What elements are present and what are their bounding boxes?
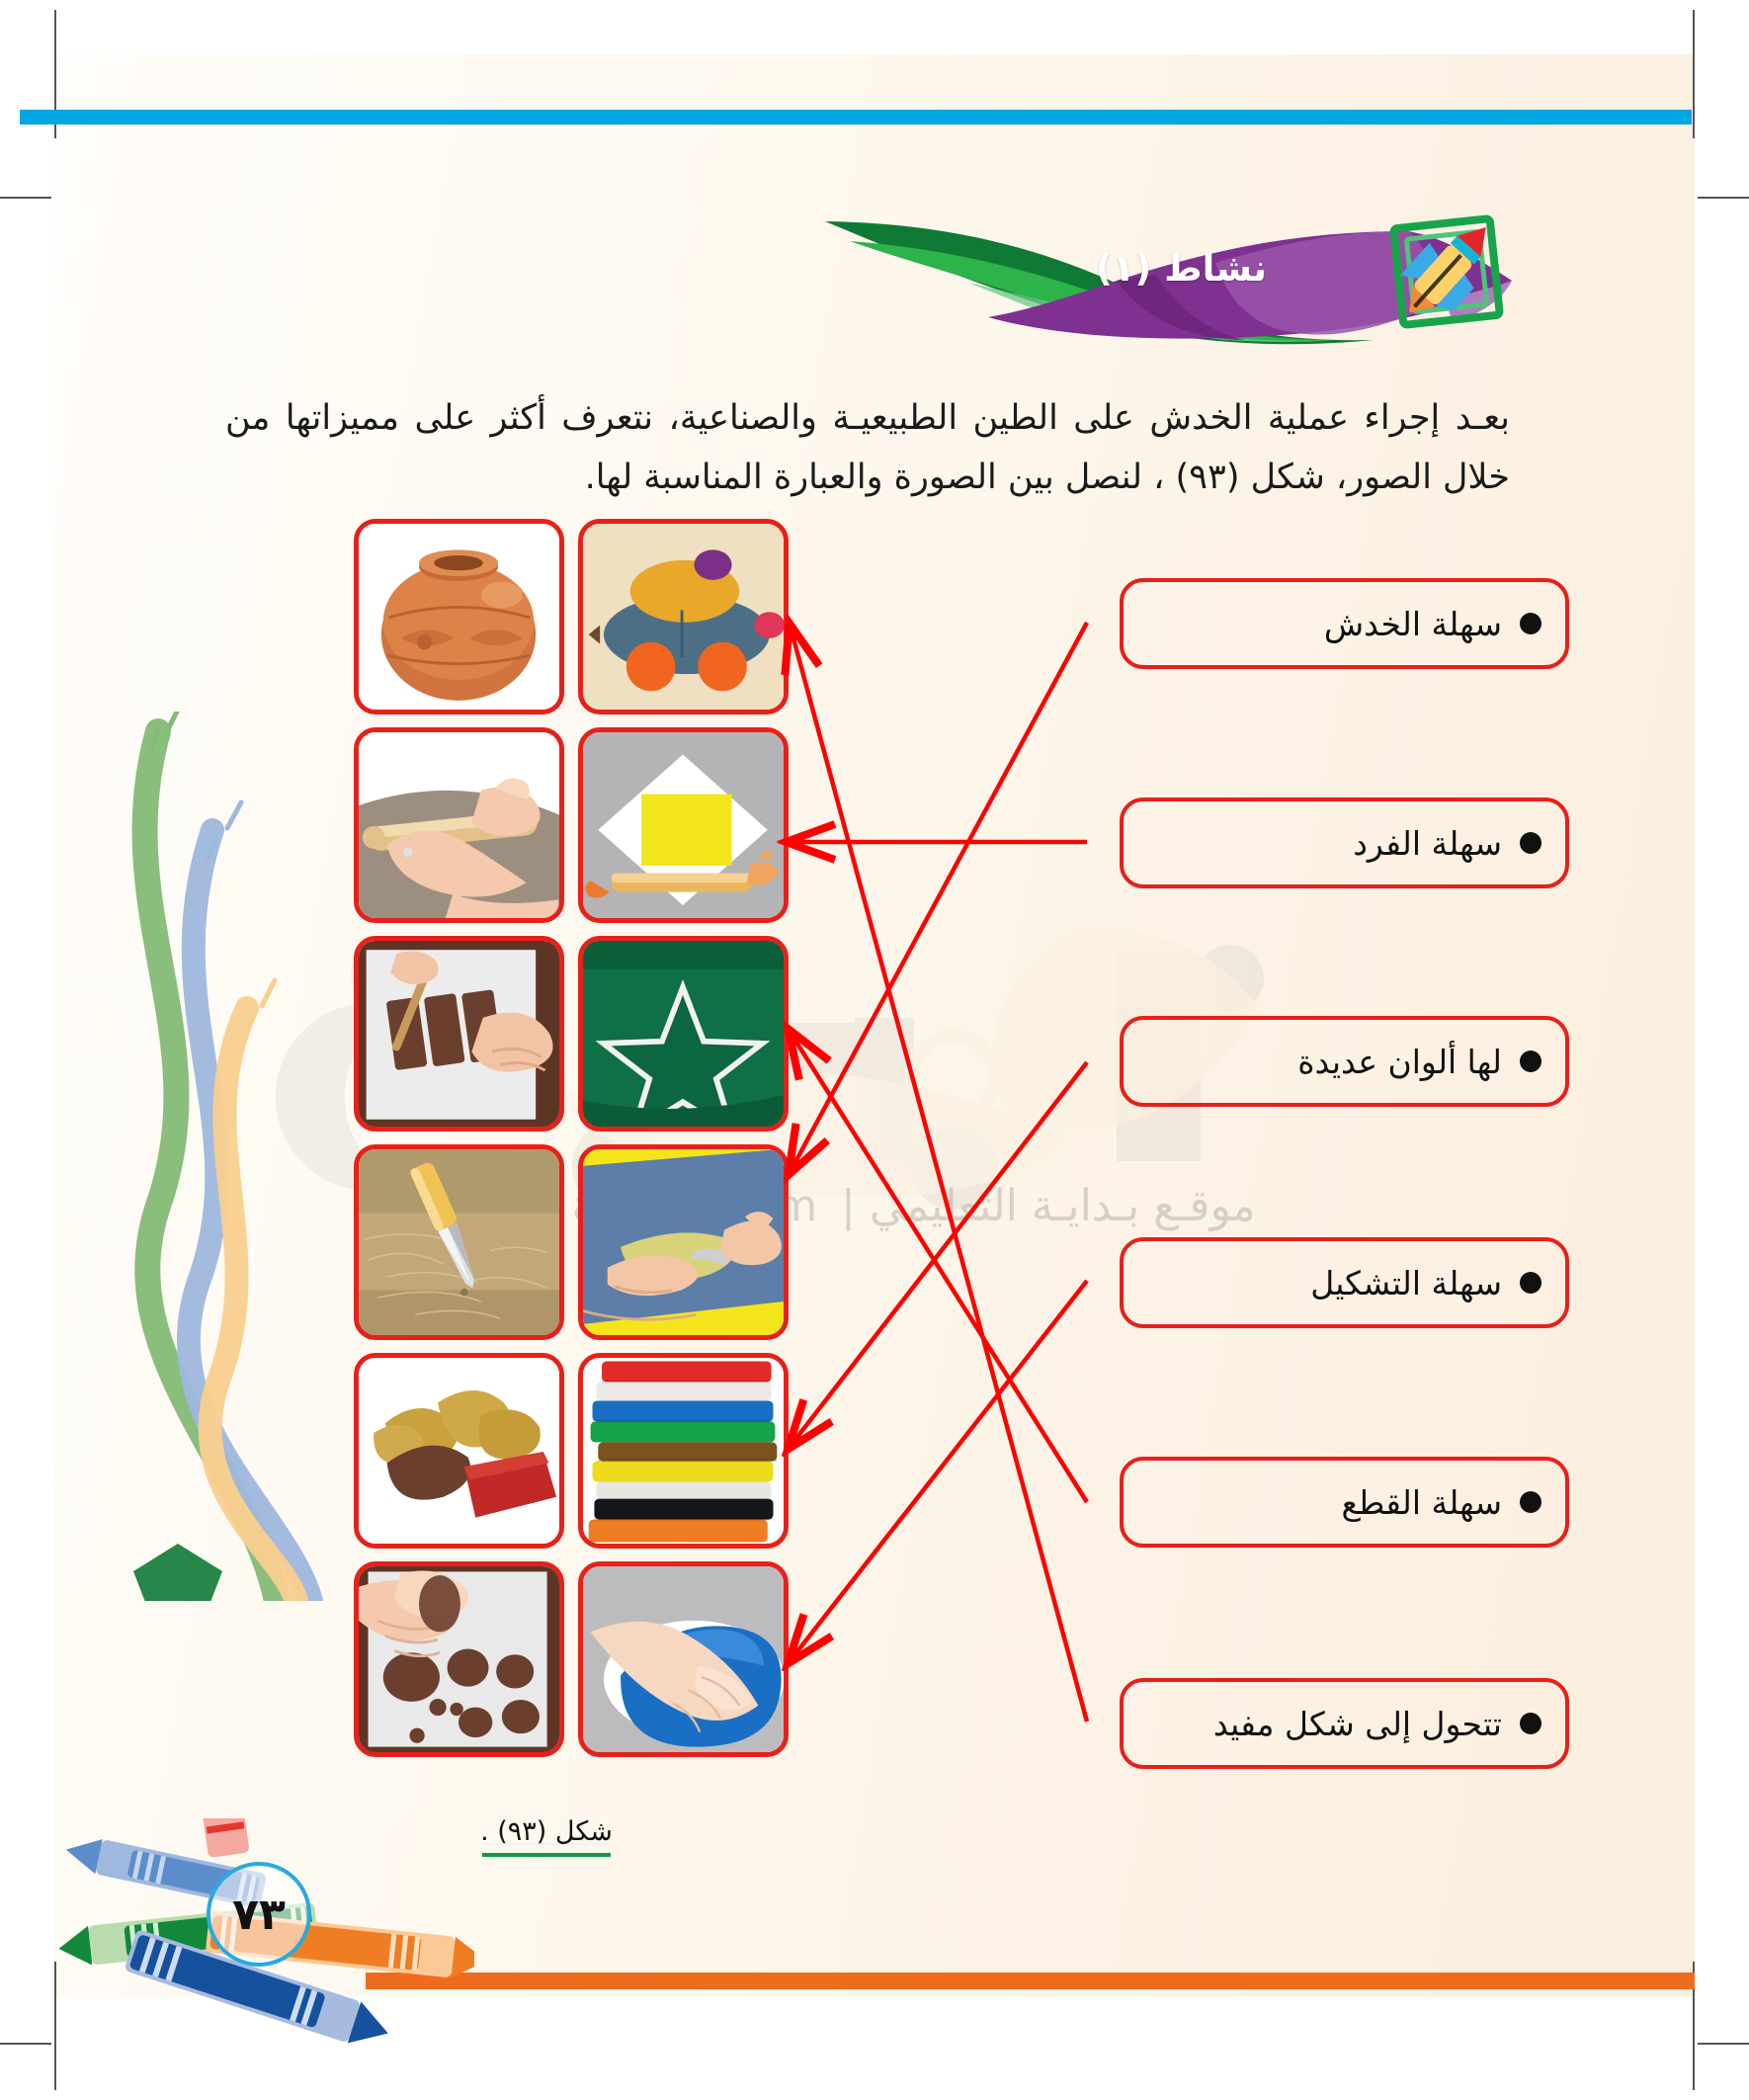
- crop-mark-left-bottom: [0, 2043, 51, 2045]
- figure-caption-text: شكل (٩٣) .: [480, 1816, 613, 1847]
- photo-row-5: [354, 1353, 789, 1549]
- top-accent-bar: [20, 110, 1692, 125]
- photo-row-6: [354, 1561, 789, 1757]
- banner-title: نشاط (١): [1096, 247, 1267, 290]
- label-text: سهلة التشكيل: [1310, 1264, 1502, 1302]
- cutting-clay-photo[interactable]: [354, 936, 564, 1132]
- photo-grid: [354, 519, 789, 1770]
- crop-mark-right-bottom: [1698, 2043, 1749, 2045]
- label-text: سهلة القطع: [1341, 1483, 1502, 1522]
- crop-mark-bottom-left: [54, 1962, 56, 2090]
- page-number: ٧٣: [207, 1862, 311, 1967]
- label-box-easy-to-spread[interactable]: سهلة الفرد: [1120, 798, 1569, 888]
- crop-mark-right-top: [1698, 197, 1749, 199]
- activity-banner: نشاط (١): [820, 204, 1532, 347]
- bullet-icon: [1520, 1491, 1541, 1513]
- bullet-icon: [1520, 1050, 1541, 1072]
- label-box-useful-shape[interactable]: تتحول إلى شكل مفيد: [1120, 1678, 1569, 1769]
- label-text: لها ألوان عديدة: [1297, 1043, 1502, 1081]
- label-box-easy-to-scratch[interactable]: سهلة الخدش: [1120, 578, 1569, 669]
- bottom-accent-bar: [366, 1973, 1695, 1989]
- crop-mark-left-top: [0, 197, 51, 199]
- pressing-dough-photo[interactable]: [578, 1561, 789, 1757]
- rolling-clay-photo[interactable]: [354, 727, 564, 923]
- scratching-tool-photo[interactable]: [354, 1144, 564, 1340]
- label-text: تتحول إلى شكل مفيد: [1213, 1705, 1502, 1743]
- bullet-icon: [1520, 1272, 1541, 1294]
- activity-instruction-text: بعـد إجراء عملية الخدش على الطين الطبيعي…: [225, 388, 1510, 507]
- rolling-dough-photo[interactable]: [578, 727, 789, 923]
- label-box-easy-to-cut[interactable]: سهلة القطع: [1120, 1457, 1569, 1548]
- playdough-car-photo[interactable]: [578, 519, 789, 714]
- photo-row-4: [354, 1144, 789, 1340]
- clay-blocks-photo[interactable]: [354, 1353, 564, 1549]
- label-box-easy-to-shape[interactable]: سهلة التشكيل: [1120, 1237, 1569, 1328]
- star-cutout-photo[interactable]: [578, 936, 789, 1132]
- shaping-balls-photo[interactable]: [354, 1561, 564, 1757]
- photo-row-2: [354, 727, 789, 923]
- figure-caption-underline: [482, 1853, 611, 1857]
- bullet-icon: [1520, 832, 1541, 854]
- decorative-ribbons: [99, 712, 375, 1601]
- photo-row-3: [354, 936, 789, 1132]
- photo-row-1: [354, 519, 789, 714]
- cutting-sheet-photo[interactable]: [578, 1144, 789, 1340]
- bullet-icon: [1520, 1713, 1541, 1734]
- clay-pot-photo[interactable]: [354, 519, 564, 714]
- colored-bars-photo[interactable]: [578, 1353, 789, 1549]
- label-box-many-colors[interactable]: لها ألوان عديدة: [1120, 1016, 1569, 1107]
- label-text: سهلة الفرد: [1353, 824, 1502, 863]
- bullet-icon: [1520, 613, 1541, 634]
- label-text: سهلة الخدش: [1324, 605, 1502, 643]
- crop-mark-top-right: [1693, 10, 1695, 138]
